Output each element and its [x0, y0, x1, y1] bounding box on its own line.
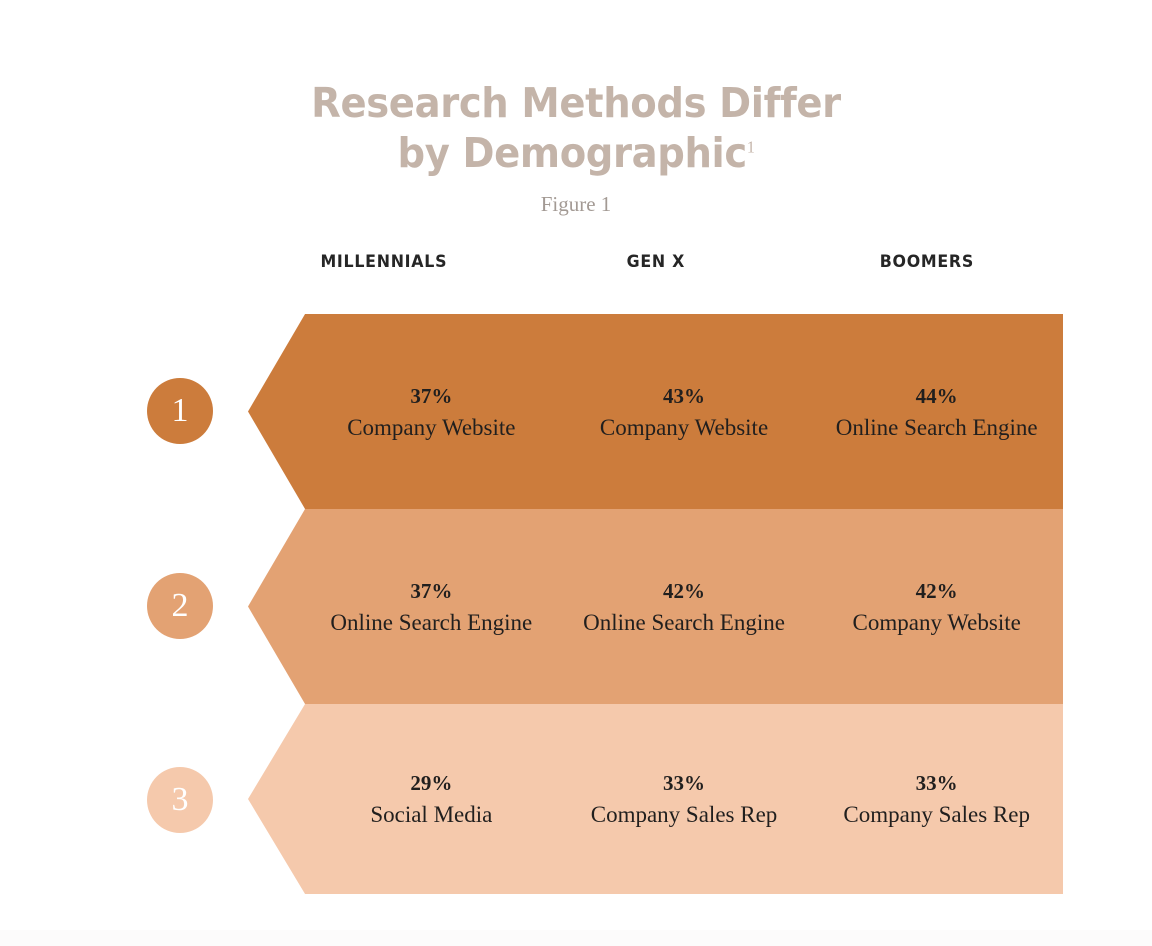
cell-label: Company Website [810, 607, 1063, 639]
band-cells-rank-2: 37% Online Search Engine 42% Online Sear… [305, 509, 1063, 704]
cell-rank2-millennials: 37% Online Search Engine [305, 575, 558, 639]
rank-badge-3: 3 [147, 767, 213, 833]
cell-percent: 33% [810, 767, 1063, 799]
rank-badge-label: 2 [172, 587, 189, 625]
column-header-gen-x: GEN X [525, 252, 786, 271]
figure-subtitle: Figure 1 [0, 192, 1152, 217]
cell-label: Company Sales Rep [810, 799, 1063, 831]
cell-label: Company Website [558, 412, 811, 444]
cell-percent: 37% [305, 575, 558, 607]
cell-percent: 33% [558, 767, 811, 799]
page-title: Research Methods Differ by Demographic1 [303, 78, 848, 178]
infographic-figure: Research Methods Differ by Demographic1 … [0, 0, 1152, 946]
column-header-row: MILLENNIALS GEN X BOOMERS [248, 252, 1063, 271]
cell-rank1-boomers: 44% Online Search Engine [810, 380, 1063, 444]
table-row: 2 37% Online Search Engine 42% Online Se… [0, 509, 1152, 704]
column-header-millennials: MILLENNIALS [253, 252, 514, 271]
cell-rank2-gen-x: 42% Online Search Engine [558, 575, 811, 639]
page-title-text: Research Methods Differ by Demographic [311, 79, 841, 177]
table-row: 3 29% Social Media 33% Company Sales Rep… [0, 704, 1152, 894]
cell-percent: 44% [810, 380, 1063, 412]
cell-percent: 42% [558, 575, 811, 607]
cell-rank2-boomers: 42% Company Website [810, 575, 1063, 639]
ranked-bands: 1 37% Company Website 43% Company Websit… [0, 314, 1152, 894]
rank-badge-label: 3 [172, 781, 189, 819]
cell-percent: 29% [305, 767, 558, 799]
title-footnote-marker: 1 [747, 137, 755, 156]
band-cells-rank-1: 37% Company Website 43% Company Website … [305, 314, 1063, 509]
cell-label: Online Search Engine [305, 607, 558, 639]
cell-rank1-millennials: 37% Company Website [305, 380, 558, 444]
rank-badge-2: 2 [147, 573, 213, 639]
cell-rank3-millennials: 29% Social Media [305, 767, 558, 831]
cell-rank1-gen-x: 43% Company Website [558, 380, 811, 444]
cell-label: Online Search Engine [558, 607, 811, 639]
cell-label: Company Website [305, 412, 558, 444]
rank-badge-1: 1 [147, 378, 213, 444]
cell-label: Online Search Engine [810, 412, 1063, 444]
cell-percent: 37% [305, 380, 558, 412]
title-block: Research Methods Differ by Demographic1 … [0, 78, 1152, 217]
cell-rank3-boomers: 33% Company Sales Rep [810, 767, 1063, 831]
table-row: 1 37% Company Website 43% Company Websit… [0, 314, 1152, 509]
cell-rank3-gen-x: 33% Company Sales Rep [558, 767, 811, 831]
cell-percent: 43% [558, 380, 811, 412]
cell-percent: 42% [810, 575, 1063, 607]
bottom-divider [0, 930, 1152, 946]
cell-label: Company Sales Rep [558, 799, 811, 831]
rank-badge-label: 1 [172, 392, 189, 430]
column-header-boomers: BOOMERS [797, 252, 1058, 271]
cell-label: Social Media [305, 799, 558, 831]
band-cells-rank-3: 29% Social Media 33% Company Sales Rep 3… [305, 704, 1063, 894]
